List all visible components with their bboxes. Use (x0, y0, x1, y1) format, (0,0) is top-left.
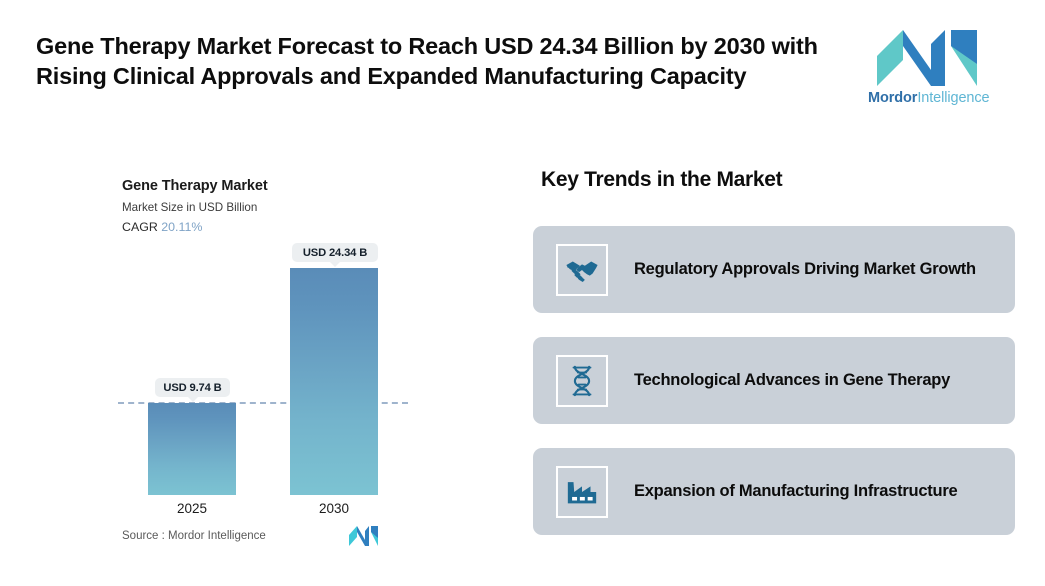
trend-card-manufacturing-expansion[interactable]: Expansion of Manufacturing Infrastructur… (533, 448, 1015, 535)
bar-2030 (290, 268, 378, 495)
x-axis-label-2030: 2030 (290, 501, 378, 516)
brand-logo: MordorIntelligence (868, 30, 988, 110)
brand-word-secondary: Intelligence (917, 90, 989, 106)
page-title: Gene Therapy Market Forecast to Reach US… (36, 31, 846, 91)
trend-card-label: Technological Advances in Gene Therapy (634, 369, 950, 392)
x-axis-label-2025: 2025 (148, 501, 236, 516)
trend-icon-box (556, 244, 608, 296)
factory-icon (565, 475, 599, 509)
key-trends-panel: Key Trends in the Market Regulatory Appr… (533, 160, 1015, 560)
handshake-icon (565, 253, 599, 287)
trend-icon-box (556, 355, 608, 407)
trend-icon-box (556, 466, 608, 518)
brand-logo-wordmark: MordorIntelligence (868, 90, 988, 106)
page-header: Gene Therapy Market Forecast to Reach US… (0, 0, 1045, 140)
trend-card-label: Expansion of Manufacturing Infrastructur… (634, 480, 957, 503)
trend-card-regulatory-approvals[interactable]: Regulatory Approvals Driving Market Grow… (533, 226, 1015, 313)
bar-value-badge-2025: USD 9.74 B (155, 378, 230, 397)
mordor-mark-small-icon (348, 526, 380, 546)
trend-card-technological-advances[interactable]: Technological Advances in Gene Therapy (533, 337, 1015, 424)
mordor-intelligence-mark-icon (873, 30, 985, 86)
key-trends-heading: Key Trends in the Market (541, 168, 782, 192)
dna-helix-icon (565, 364, 599, 398)
chart-panel: Gene Therapy Market Market Size in USD B… (0, 150, 500, 570)
brand-word-primary: Mordor (868, 90, 917, 106)
trend-card-label: Regulatory Approvals Driving Market Grow… (634, 258, 976, 281)
bar-2025 (148, 403, 236, 495)
chart-source-text: Source : Mordor Intelligence (122, 530, 266, 542)
bar-chart-plot-area: USD 9.74 B USD 24.34 B 2025 2030 (0, 150, 500, 570)
bar-value-badge-2030: USD 24.34 B (292, 243, 378, 262)
